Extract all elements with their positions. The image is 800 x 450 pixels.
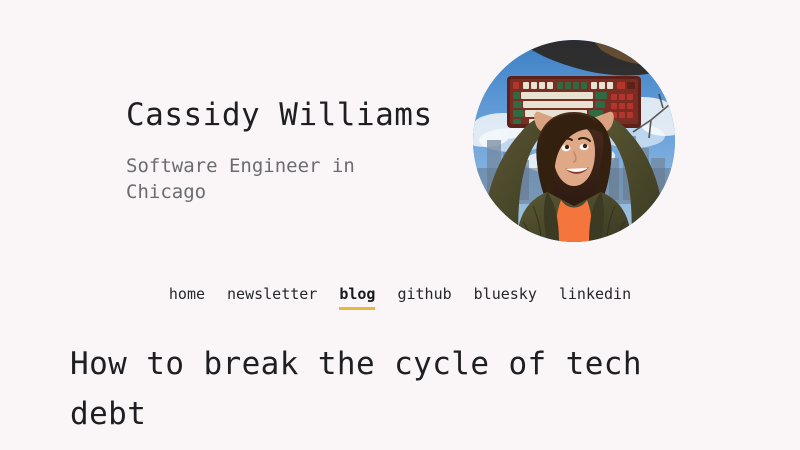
nav-link-blog[interactable]: blog xyxy=(339,283,375,310)
site-tagline: Software Engineer in Chicago xyxy=(126,135,416,205)
nav-link-linkedin[interactable]: linkedin xyxy=(559,283,631,306)
site-header: Cassidy Williams Software Engineer in Ch… xyxy=(0,0,800,256)
nav-link-github[interactable]: github xyxy=(397,283,451,306)
site-name: Cassidy Williams xyxy=(126,96,456,135)
page-root: Cassidy Williams Software Engineer in Ch… xyxy=(0,0,800,450)
identity-block: Cassidy Williams Software Engineer in Ch… xyxy=(126,96,456,205)
avatar xyxy=(473,40,675,242)
nav-link-bluesky[interactable]: bluesky xyxy=(474,283,537,306)
main-navigation[interactable]: home newsletter blog github bluesky link… xyxy=(0,283,800,310)
post-title: How to break the cycle of tech debt xyxy=(70,340,670,439)
nav-link-home[interactable]: home xyxy=(169,283,205,306)
nav-link-newsletter[interactable]: newsletter xyxy=(227,283,317,306)
avatar-photo xyxy=(473,40,675,242)
